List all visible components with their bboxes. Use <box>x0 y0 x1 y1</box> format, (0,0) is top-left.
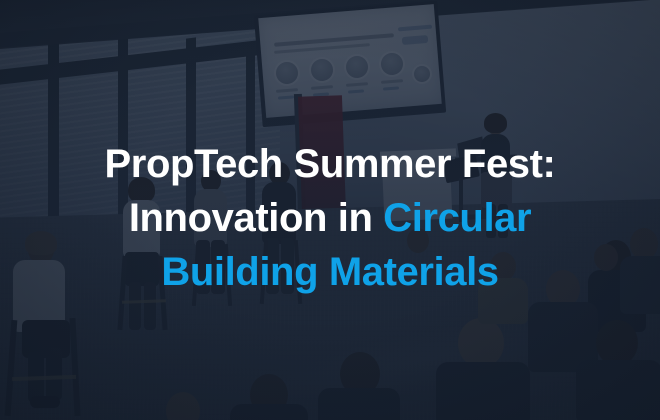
headline-container: PropTech Summer Fest: Innovation in Circ… <box>0 0 660 420</box>
banner-headline: PropTech Summer Fest: Innovation in Circ… <box>30 137 630 299</box>
headline-line-2-plain: Innovation in <box>129 196 383 240</box>
headline-line-3: Building Materials <box>30 245 630 299</box>
headline-line-2-accent: Circular <box>383 196 531 240</box>
headline-line-3-accent: Building Materials <box>161 250 498 294</box>
event-hero-banner: PropTech Summer Fest: Innovation in Circ… <box>0 0 660 420</box>
headline-line-1-text: PropTech Summer Fest: <box>105 142 556 186</box>
headline-line-2: Innovation in Circular <box>30 191 630 245</box>
headline-line-1: PropTech Summer Fest: <box>30 137 630 191</box>
